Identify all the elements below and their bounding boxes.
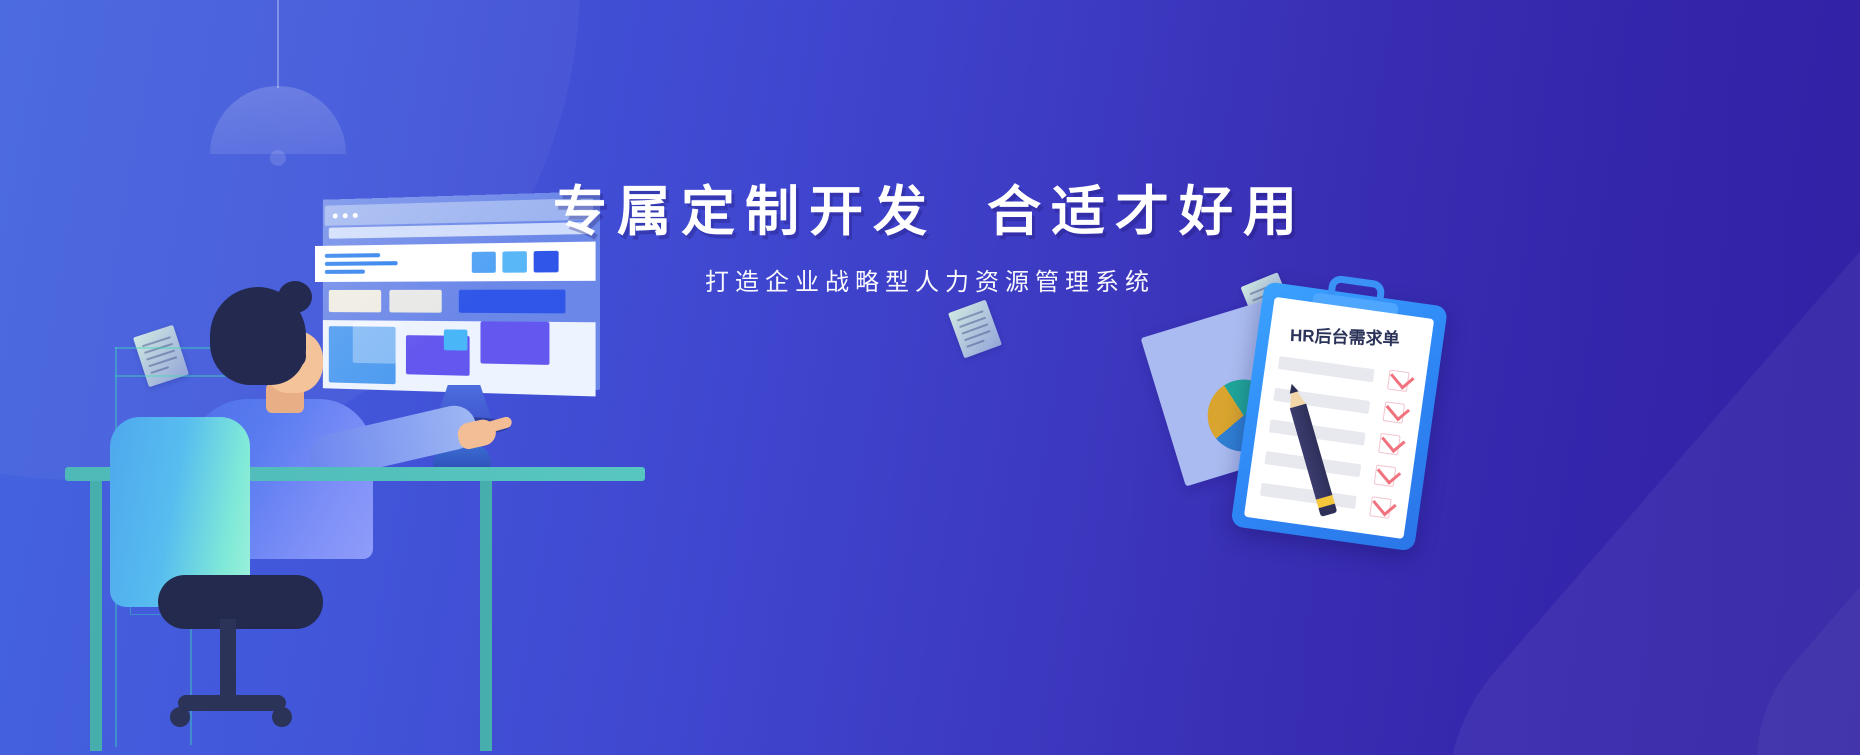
headline-block: 专属定制开发 合适才好用 打造企业战略型人力资源管理系统 <box>0 183 1860 297</box>
note-paper-mid <box>948 300 1002 359</box>
checklist-row-line <box>1278 356 1375 382</box>
clipboard-paper: HR后台需求单 <box>1244 297 1434 539</box>
office-chair-base <box>178 695 286 711</box>
office-chair-wheel-right <box>272 707 292 727</box>
lamp-bulb <box>270 150 286 166</box>
card-right-line-2 <box>480 377 529 378</box>
person-ear <box>288 345 306 367</box>
card-right-line-1 <box>480 370 540 371</box>
card-chart-right <box>480 321 549 365</box>
office-chair-seat <box>158 575 323 629</box>
checkbox-checked[interactable] <box>1374 465 1397 488</box>
desk-leg-left <box>90 481 102 751</box>
office-chair-post <box>220 619 236 699</box>
checkbox-checked[interactable] <box>1383 401 1406 424</box>
hero-banner: 专属定制开发 合适才好用 打造企业战略型人力资源管理系统 <box>0 0 1860 755</box>
clipboard-title: HR后台需求单 <box>1290 321 1400 350</box>
desk-leg-right <box>480 481 492 751</box>
lamp-cord <box>277 0 279 88</box>
pencil-body <box>1290 404 1333 501</box>
banner-subheadline: 打造企业战略型人力资源管理系统 <box>0 262 1860 297</box>
checkbox-checked[interactable] <box>1387 369 1410 392</box>
illustration-clipboard-scene: HR后台需求单 <box>1160 275 1540 605</box>
office-chair-wheel-left <box>170 707 190 727</box>
clipboard: HR后台需求单 <box>1230 263 1450 551</box>
checkbox-checked[interactable] <box>1369 496 1392 519</box>
banner-headline: 专属定制开发 合适才好用 <box>0 183 1860 242</box>
checkbox-checked[interactable] <box>1378 433 1401 456</box>
checklist-row-line <box>1260 483 1357 509</box>
